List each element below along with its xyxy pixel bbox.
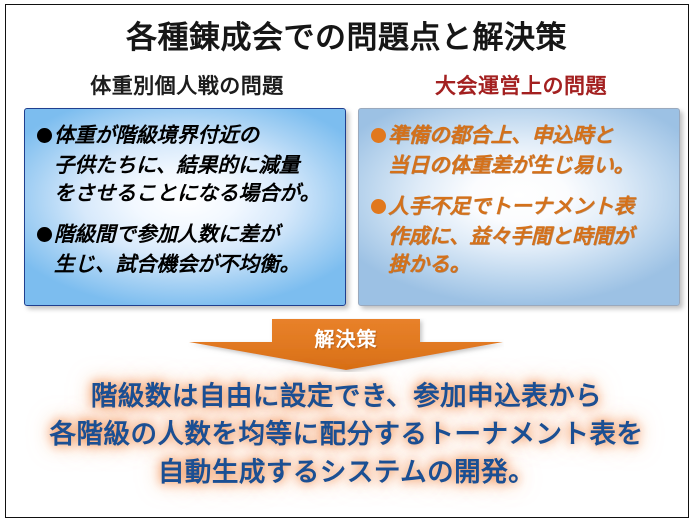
bullet-group: 準備の都合上、申込時と 当日の体重差が生じ易い。 [371,121,669,179]
bullet-text-line: 人手不足でトーナメント表 [388,192,634,220]
bullet-item: 階級間で参加人数に差が [37,220,335,248]
bullet-item: 準備の都合上、申込時と [371,121,669,149]
bullet-dot-icon [37,227,52,242]
column-heading-left: 体重別個人戦の問題 [24,70,350,100]
bullet-text-line: 階級間で参加人数に差が [54,220,280,248]
down-arrow-icon [188,318,504,372]
slide-canvas: 各種錬成会での問題点と解決策 体重別個人戦の問題 大会運営上の問題 体重が階級境… [0,0,693,523]
problem-box-left: 体重が階級境界付近の 子供たちに、結果的に減量 をさせることになる場合が。 階級… [24,108,346,306]
bullet-text-line: 作成に、益々手間と時間が [371,222,669,250]
bullet-item: 人手不足でトーナメント表 [371,192,669,220]
problem-box-right-content: 準備の都合上、申込時と 当日の体重差が生じ易い。 人手不足でトーナメント表 作成… [359,109,679,305]
bullet-text-line: 掛かる。 [371,250,669,278]
bullet-text-line: をさせることになる場合が。 [37,179,335,207]
problem-box-left-content: 体重が階級境界付近の 子供たちに、結果的に減量 をさせることになる場合が。 階級… [25,109,345,305]
bullet-item: 体重が階級境界付近の [37,121,335,149]
bullet-text-line: 体重が階級境界付近の [54,121,259,149]
solution-line: 自動生成するシステムの開発。 [0,454,693,492]
solution-line: 各階級の人数を均等に配分するトーナメント表を [0,416,693,454]
bullet-group: 体重が階級境界付近の 子供たちに、結果的に減量 をさせることになる場合が。 [37,121,335,207]
column-heading-right: 大会運営上の問題 [358,70,684,100]
bullet-text-line: 当日の体重差が生じ易い。 [371,151,669,179]
bullet-dot-icon [371,199,386,214]
bullet-dot-icon [37,128,52,143]
solution-line: 階級数は自由に設定でき、参加申込表から [0,378,693,416]
problem-box-right: 準備の都合上、申込時と 当日の体重差が生じ易い。 人手不足でトーナメント表 作成… [358,108,680,306]
bullet-text-line: 準備の都合上、申込時と [388,121,614,149]
bullet-text-line: 生じ、試合機会が不均衡。 [37,250,335,278]
bullet-dot-icon [371,128,386,143]
bullet-group: 階級間で参加人数に差が 生じ、試合機会が不均衡。 [37,220,335,278]
page-title: 各種錬成会での問題点と解決策 [0,12,693,57]
solution-arrow: 解決策 [188,318,504,372]
solution-text-block: 階級数は自由に設定でき、参加申込表から 各階級の人数を均等に配分するトーナメント… [0,378,693,492]
bullet-text-line: 子供たちに、結果的に減量 [37,151,335,179]
bullet-group: 人手不足でトーナメント表 作成に、益々手間と時間が 掛かる。 [371,192,669,278]
